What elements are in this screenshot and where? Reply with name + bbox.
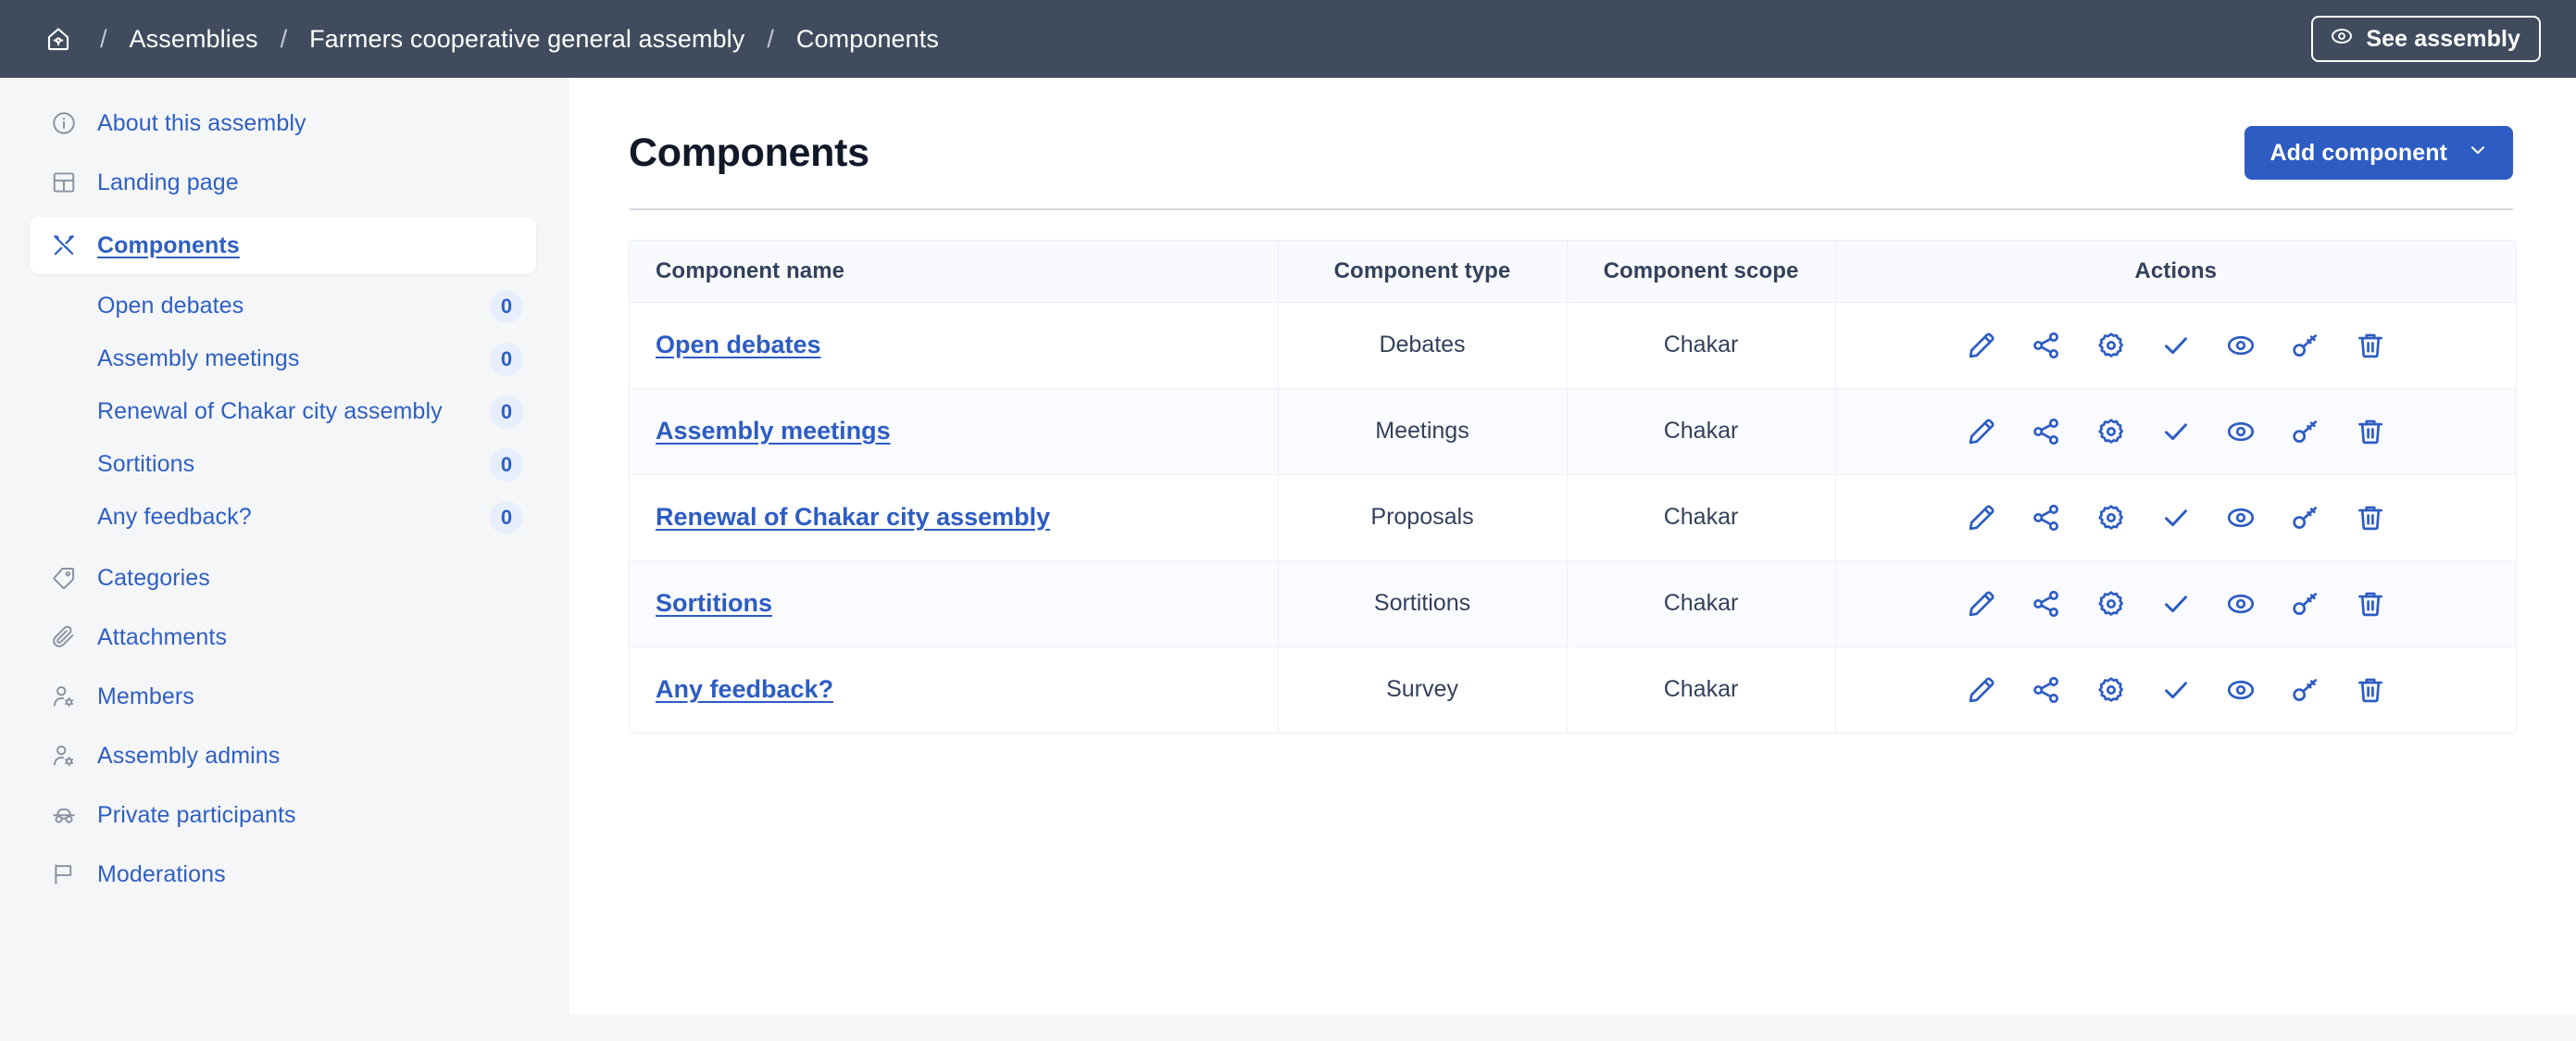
table-row: Open debates Debates Chakar <box>630 302 2516 388</box>
sidebar-item-label: Components <box>97 232 240 259</box>
add-component-button[interactable]: Add component <box>2245 126 2513 180</box>
spacer <box>0 207 569 217</box>
sidebar-item-moderations[interactable]: Moderations <box>30 849 536 899</box>
gear-icon[interactable] <box>2095 587 2128 621</box>
sidebar-item-label: About this assembly <box>97 110 306 137</box>
key-icon[interactable] <box>2289 415 2322 448</box>
see-assembly-label: See assembly <box>2366 26 2520 53</box>
row-actions <box>1858 501 2495 534</box>
sidebar-subitem-count: 0 <box>490 501 523 534</box>
info-circle-icon <box>50 109 78 137</box>
eye-icon[interactable] <box>2224 587 2257 621</box>
row-actions <box>1858 329 2495 362</box>
add-component-label: Add component <box>2270 140 2447 167</box>
sidebar-item-components[interactable]: Components <box>30 217 536 274</box>
main-content: Components Add component Component name … <box>569 78 2576 1014</box>
share-icon[interactable] <box>2030 587 2063 621</box>
user-settings-icon <box>50 683 78 710</box>
pencil-icon[interactable] <box>1965 501 1998 534</box>
breadcrumb-link-assembly[interactable]: Farmers cooperative general assembly <box>309 25 744 54</box>
cell-component-name: Any feedback? <box>630 646 1278 733</box>
cell-component-scope: Chakar <box>1567 388 1835 474</box>
breadcrumb-separator-3: / <box>744 25 796 54</box>
cell-component-name: Renewal of Chakar city assembly <box>630 474 1278 560</box>
sidebar-subitem-open-debates[interactable]: Open debates 0 <box>30 280 536 332</box>
home-icon[interactable] <box>39 19 78 58</box>
components-table-container: Component name Component type Component … <box>629 240 2517 734</box>
trash-icon[interactable] <box>2354 415 2387 448</box>
key-icon[interactable] <box>2289 501 2322 534</box>
tools-icon <box>50 232 78 259</box>
sidebar-subitem-count: 0 <box>490 290 523 323</box>
table-head: Component name Component type Component … <box>630 241 2516 302</box>
sidebar-item-label: Categories <box>97 565 210 592</box>
sidebar-item-landing-page[interactable]: Landing page <box>30 157 536 207</box>
component-link-sortitions[interactable]: Sortitions <box>656 589 772 617</box>
table-header-row: Component name Component type Component … <box>630 241 2516 302</box>
sidebar-item-label: Landing page <box>97 169 239 196</box>
sidebar-item-label: Assembly admins <box>97 743 280 770</box>
sidebar-item-assembly-admins[interactable]: Assembly admins <box>30 731 536 781</box>
cell-component-scope: Chakar <box>1567 560 1835 646</box>
gear-icon[interactable] <box>2095 501 2128 534</box>
component-link-open-debates[interactable]: Open debates <box>656 331 821 358</box>
component-link-assembly-meetings[interactable]: Assembly meetings <box>656 417 891 445</box>
table-row: Assembly meetings Meetings Chakar <box>630 388 2516 474</box>
cell-component-name: Sortitions <box>630 560 1278 646</box>
row-actions <box>1858 415 2495 448</box>
breadcrumb-separator-2: / <box>258 25 310 54</box>
sidebar-item-label: Attachments <box>97 624 227 651</box>
breadcrumb-separator-1: / <box>78 25 130 54</box>
sidebar-item-members[interactable]: Members <box>30 671 536 721</box>
sidebar-subitem-assembly-meetings[interactable]: Assembly meetings 0 <box>30 332 536 385</box>
trash-icon[interactable] <box>2354 501 2387 534</box>
spacer <box>0 544 569 553</box>
check-icon[interactable] <box>2159 673 2193 707</box>
spacer <box>0 840 569 849</box>
cell-component-scope: Chakar <box>1567 474 1835 560</box>
sidebar: About this assembly Landing page Compone… <box>0 78 569 1041</box>
sidebar-subitem-label: Open debates <box>97 293 490 320</box>
sidebar-subitem-count: 0 <box>490 395 523 429</box>
trash-icon[interactable] <box>2354 673 2387 707</box>
table-row: Renewal of Chakar city assembly Proposal… <box>630 474 2516 560</box>
cell-actions <box>1835 388 2516 474</box>
header-divider <box>629 208 2513 210</box>
price-tag-icon <box>50 564 78 592</box>
share-icon[interactable] <box>2030 673 2063 707</box>
row-actions <box>1858 587 2495 621</box>
sidebar-item-attachments[interactable]: Attachments <box>30 612 536 662</box>
page-header: Components Add component <box>569 78 2576 180</box>
user-settings-icon <box>50 742 78 770</box>
spacer <box>0 662 569 671</box>
spacer <box>0 148 569 157</box>
sidebar-subitem-renewal-of-chakar-city-assembly[interactable]: Renewal of Chakar city assembly 0 <box>30 385 536 438</box>
spacer <box>0 721 569 731</box>
table-body: Open debates Debates Chakar <box>630 302 2516 733</box>
pencil-icon[interactable] <box>1965 329 1998 362</box>
check-icon[interactable] <box>2159 587 2193 621</box>
eye-icon[interactable] <box>2224 329 2257 362</box>
sidebar-subitem-count: 0 <box>490 448 523 482</box>
cell-actions <box>1835 646 2516 733</box>
check-icon[interactable] <box>2159 329 2193 362</box>
gear-icon[interactable] <box>2095 673 2128 707</box>
table-row: Sortitions Sortitions Chakar <box>630 560 2516 646</box>
gear-icon[interactable] <box>2095 415 2128 448</box>
check-icon[interactable] <box>2159 415 2193 448</box>
share-icon[interactable] <box>2030 415 2063 448</box>
page-title: Components <box>629 131 869 176</box>
top-bar: / Assemblies / Farmers cooperative gener… <box>0 0 2576 78</box>
breadcrumb-current-components: Components <box>796 25 939 54</box>
header-component-name: Component name <box>630 241 1278 302</box>
sidebar-subitem-count: 0 <box>490 343 523 376</box>
sidebar-subitem-any-feedback[interactable]: Any feedback? 0 <box>30 491 536 544</box>
cell-component-scope: Chakar <box>1567 646 1835 733</box>
pencil-icon[interactable] <box>1965 587 1998 621</box>
spacer <box>0 603 569 612</box>
cell-component-type: Debates <box>1278 302 1567 388</box>
cell-component-scope: Chakar <box>1567 302 1835 388</box>
key-icon[interactable] <box>2289 587 2322 621</box>
sidebar-subnav: Open debates 0 Assembly meetings 0 Renew… <box>0 280 569 544</box>
paperclip-icon <box>50 623 78 651</box>
sidebar-item-label: Moderations <box>97 861 226 888</box>
eye-icon[interactable] <box>2224 673 2257 707</box>
sidebar-subitem-label: Renewal of Chakar city assembly <box>97 398 490 425</box>
eye-icon[interactable] <box>2224 415 2257 448</box>
cell-actions <box>1835 474 2516 560</box>
cell-component-name: Open debates <box>630 302 1278 388</box>
sidebar-item-label: Members <box>97 684 194 710</box>
pencil-icon[interactable] <box>1965 673 1998 707</box>
trash-icon[interactable] <box>2354 587 2387 621</box>
sidebar-subitem-label: Sortitions <box>97 451 490 478</box>
check-icon[interactable] <box>2159 501 2193 534</box>
header-actions: Actions <box>1835 241 2516 302</box>
component-link-any-feedback[interactable]: Any feedback? <box>656 675 833 703</box>
cell-component-type: Meetings <box>1278 388 1567 474</box>
sidebar-item-about-this-assembly[interactable]: About this assembly <box>30 98 536 148</box>
breadcrumb: / Assemblies / Farmers cooperative gener… <box>39 19 2311 58</box>
components-table: Component name Component type Component … <box>630 241 2516 733</box>
sidebar-item-categories[interactable]: Categories <box>30 553 536 603</box>
header-component-scope: Component scope <box>1567 241 1835 302</box>
cell-actions <box>1835 302 2516 388</box>
sidebar-subitem-label: Any feedback? <box>97 504 490 531</box>
cell-component-name: Assembly meetings <box>630 388 1278 474</box>
flag-icon <box>50 860 78 888</box>
table-row: Any feedback? Survey Chakar <box>630 646 2516 733</box>
share-icon[interactable] <box>2030 329 2063 362</box>
pencil-icon[interactable] <box>1965 415 1998 448</box>
sidebar-subitem-sortitions[interactable]: Sortitions 0 <box>30 438 536 491</box>
chevron-down-icon <box>2468 140 2488 167</box>
component-link-renewal-of-chakar-city-assembly[interactable]: Renewal of Chakar city assembly <box>656 503 1050 531</box>
spy-icon <box>50 801 78 829</box>
layout-grid-icon <box>50 169 78 196</box>
share-icon[interactable] <box>2030 501 2063 534</box>
cell-actions <box>1835 560 2516 646</box>
key-icon[interactable] <box>2289 329 2322 362</box>
cell-component-type: Survey <box>1278 646 1567 733</box>
cell-component-type: Proposals <box>1278 474 1567 560</box>
see-assembly-button[interactable]: See assembly <box>2311 16 2541 62</box>
cell-component-type: Sortitions <box>1278 560 1567 646</box>
gear-icon[interactable] <box>2095 329 2128 362</box>
breadcrumb-link-assemblies[interactable]: Assemblies <box>130 25 258 54</box>
spacer <box>0 781 569 790</box>
sidebar-subitem-label: Assembly meetings <box>97 345 490 372</box>
row-actions <box>1858 673 2495 707</box>
sidebar-item-private-participants[interactable]: Private participants <box>30 790 536 840</box>
eye-icon[interactable] <box>2224 501 2257 534</box>
eye-icon <box>2330 24 2354 55</box>
trash-icon[interactable] <box>2354 329 2387 362</box>
sidebar-item-label: Private participants <box>97 802 296 829</box>
key-icon[interactable] <box>2289 673 2322 707</box>
header-component-type: Component type <box>1278 241 1567 302</box>
